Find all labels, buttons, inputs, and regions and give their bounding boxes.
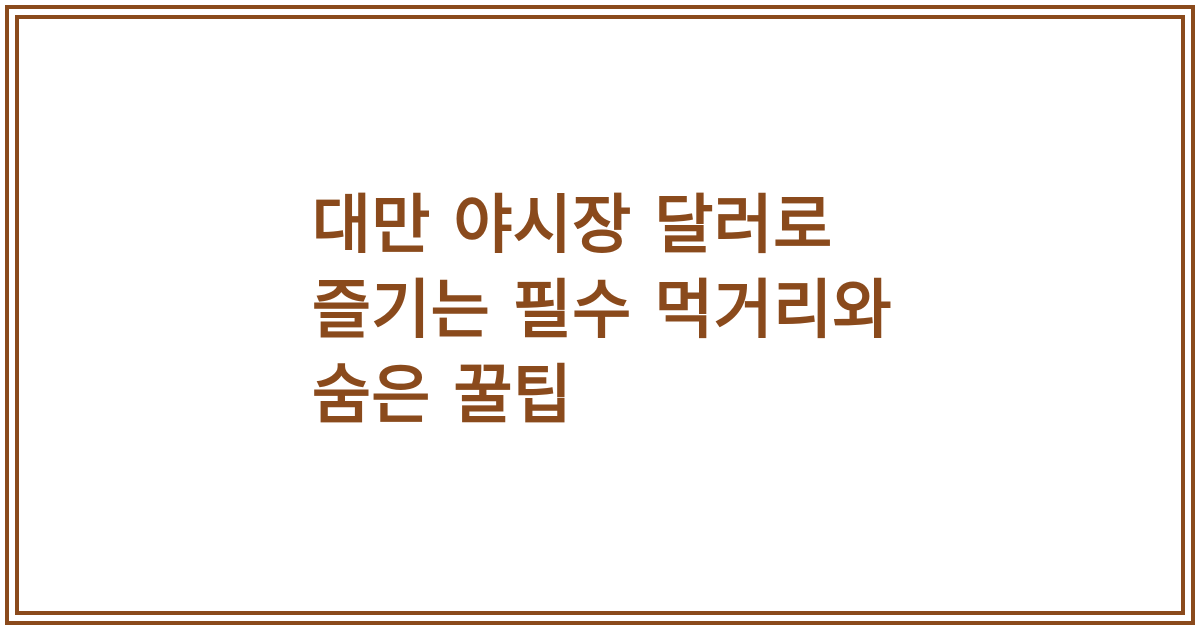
page-title: 대만 야시장 달러로 즐기는 필수 먹거리와 숨은 꿀팁: [312, 184, 892, 439]
card-content-area: 대만 야시장 달러로 즐기는 필수 먹거리와 숨은 꿀팁: [15, 15, 1185, 615]
title-card: 대만 야시장 달러로 즐기는 필수 먹거리와 숨은 꿀팁: [0, 0, 1200, 630]
title-line-1: 대만 야시장 달러로: [312, 184, 892, 269]
title-line-3: 숨은 꿀팁: [312, 354, 892, 439]
title-line-2: 즐기는 필수 먹거리와: [312, 269, 892, 354]
